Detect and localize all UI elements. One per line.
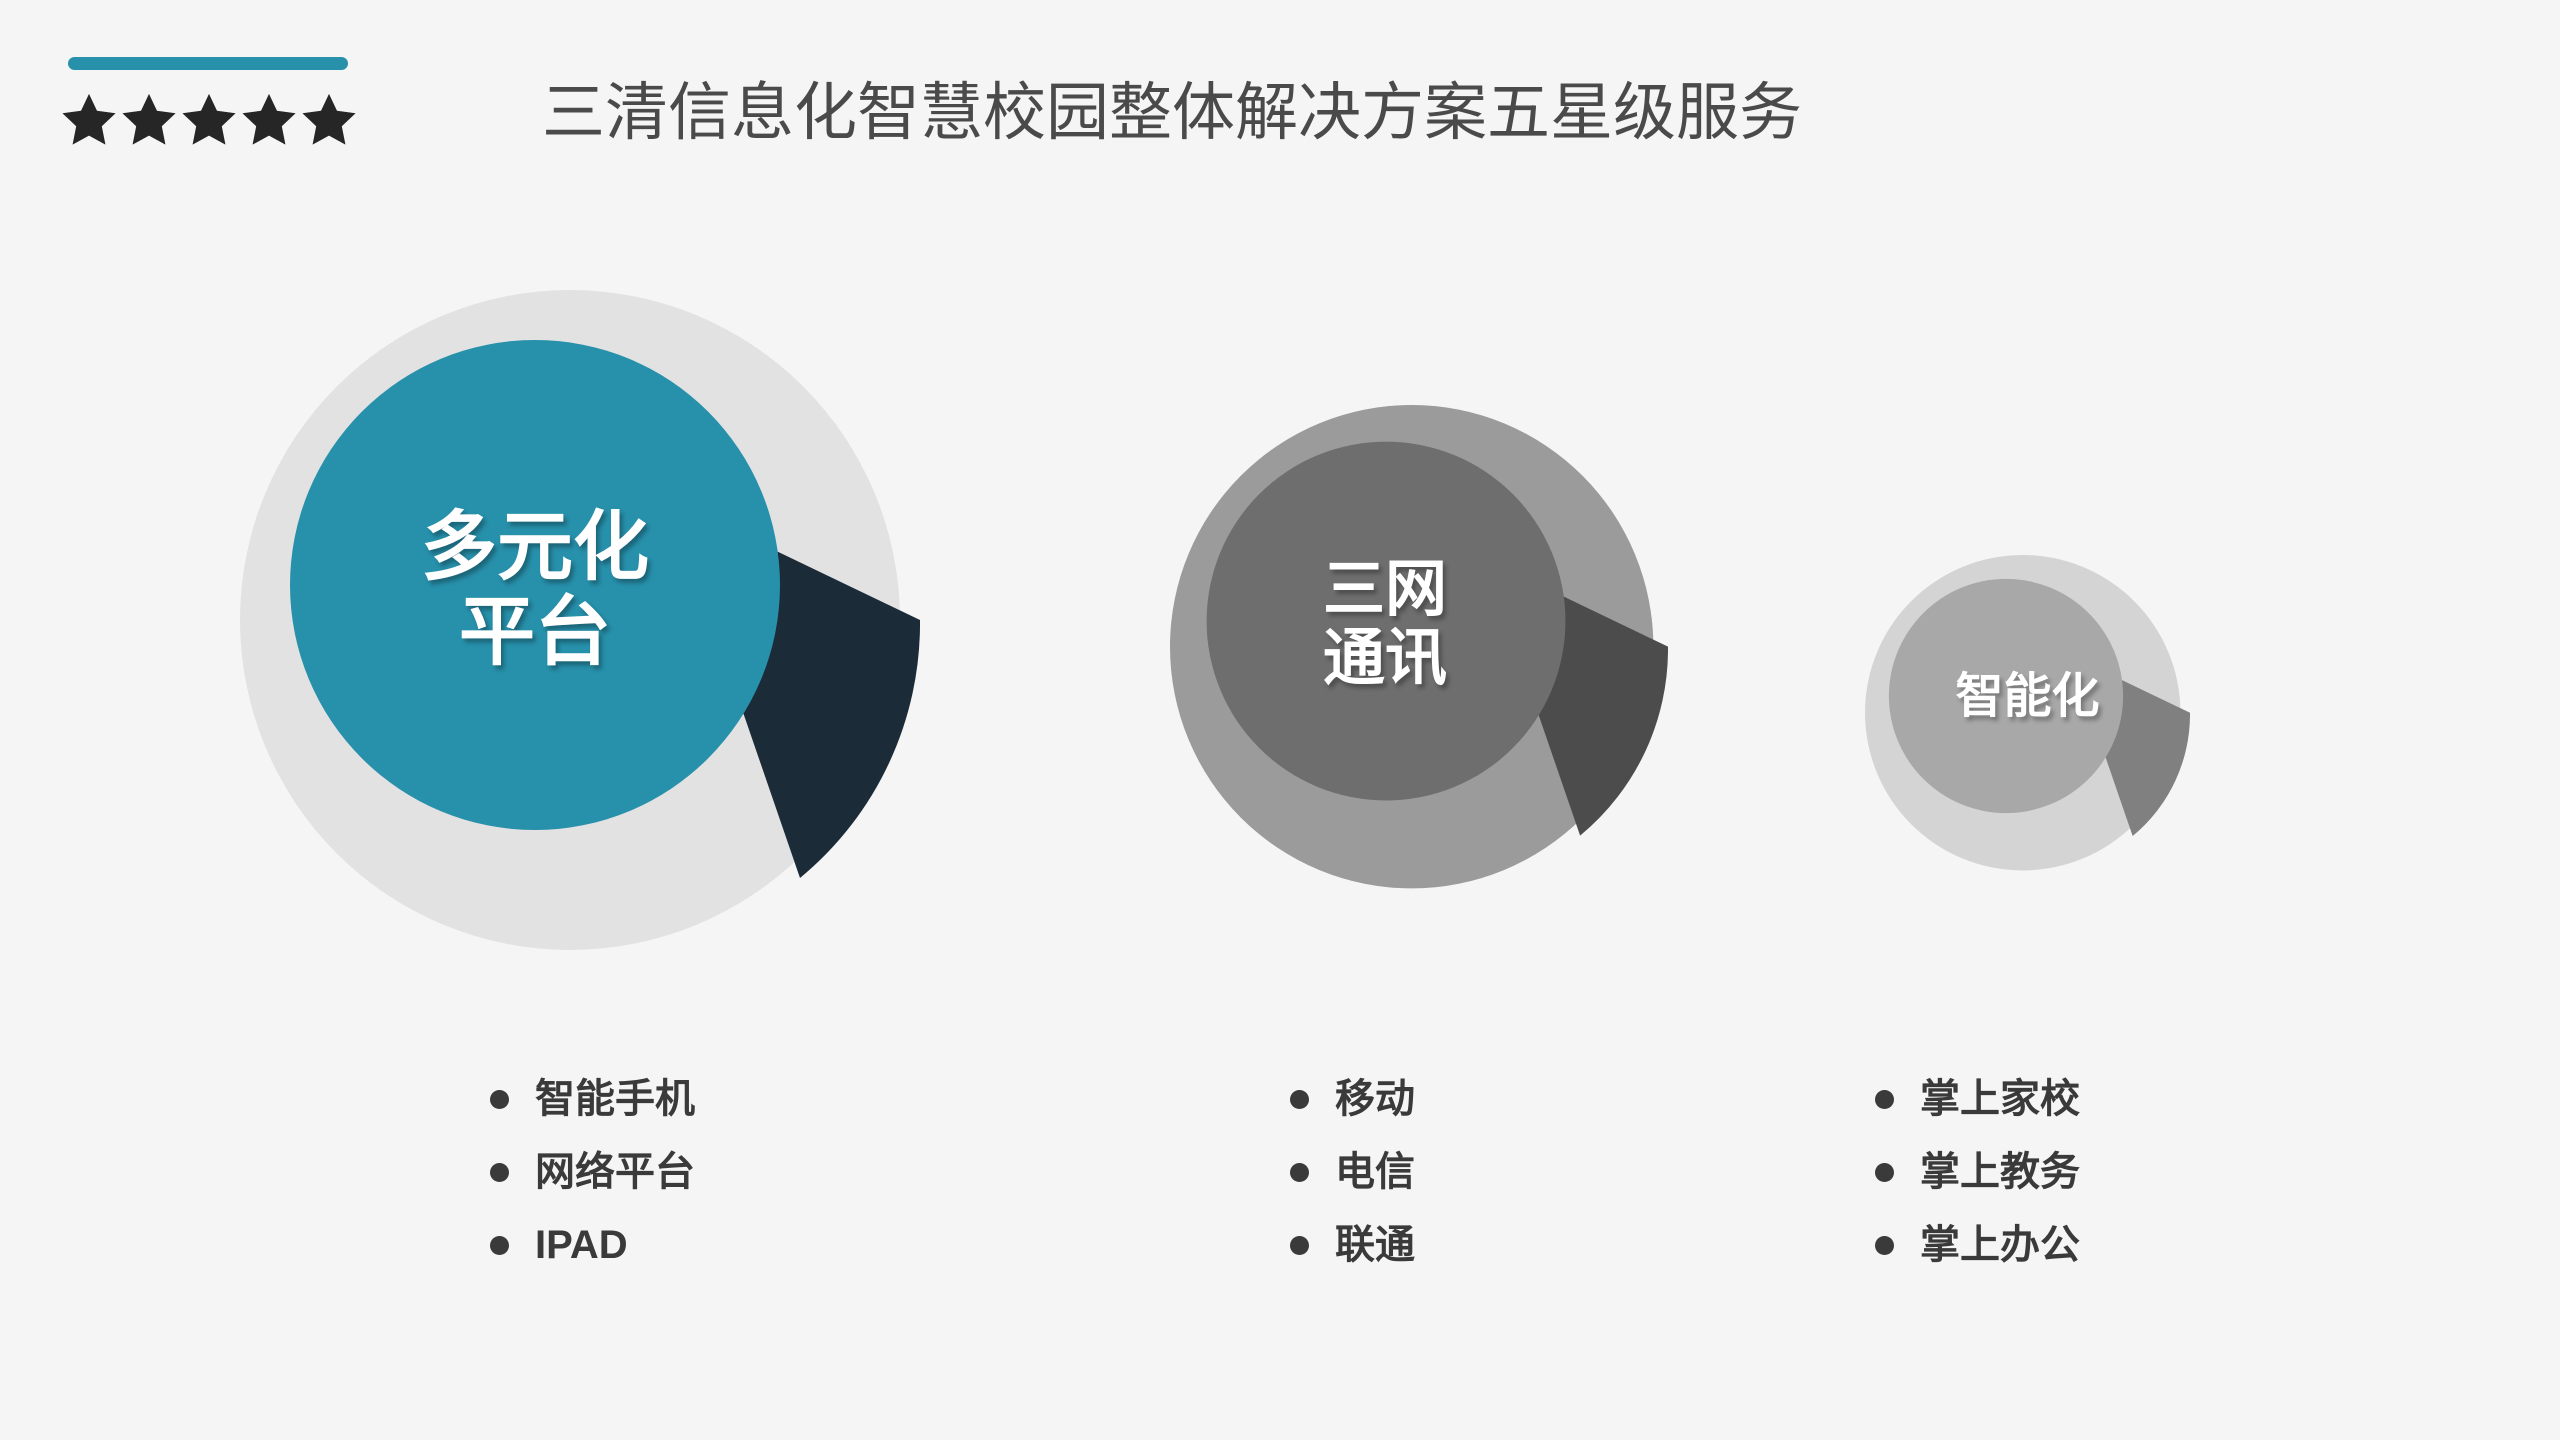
page-title: 三清信息化智慧校园整体解决方案五星级服务 bbox=[542, 82, 1802, 145]
list-item[interactable]: 掌上家校 bbox=[1875, 1075, 2080, 1123]
list-item[interactable]: IPAD bbox=[490, 1221, 695, 1269]
list-item-label: 掌上家校 bbox=[1920, 1079, 2080, 1119]
list-item-label: 电信 bbox=[1335, 1152, 1415, 1192]
feature-list-intelligent: 掌上家校 掌上教务 掌上办公 bbox=[1875, 1075, 2080, 1294]
star-icon bbox=[240, 90, 298, 148]
list-item[interactable]: 移动 bbox=[1290, 1075, 1415, 1123]
feature-list-three-networks: 移动 电信 联通 bbox=[1290, 1075, 1415, 1294]
inner-accent-circle bbox=[290, 340, 780, 830]
donut-chart-intelligent bbox=[1865, 555, 2190, 880]
list-item[interactable]: 智能手机 bbox=[490, 1075, 695, 1123]
bullet-dot-icon bbox=[1875, 1236, 1894, 1255]
list-item[interactable]: 掌上教务 bbox=[1875, 1148, 2080, 1196]
star-icon bbox=[300, 90, 358, 148]
columns-container: 多元化 平台 智能手机 网络平台 IPAD 三网 通讯 bbox=[0, 230, 2560, 1440]
star-icon bbox=[120, 90, 178, 148]
list-item-label: 移动 bbox=[1335, 1079, 1415, 1119]
bullet-dot-icon bbox=[1290, 1163, 1309, 1182]
star-rating bbox=[60, 90, 358, 148]
inner-accent-circle bbox=[1889, 579, 2123, 813]
bullet-dot-icon bbox=[1875, 1090, 1894, 1109]
list-item-label: 掌上教务 bbox=[1920, 1152, 2080, 1192]
list-item-label: IPAD bbox=[535, 1225, 628, 1265]
list-item-label: 智能手机 bbox=[535, 1079, 695, 1119]
feature-list-multi-platform: 智能手机 网络平台 IPAD bbox=[490, 1075, 695, 1294]
list-item-label: 掌上办公 bbox=[1920, 1225, 2080, 1265]
bullet-dot-icon bbox=[1290, 1236, 1309, 1255]
bullet-dot-icon bbox=[490, 1163, 509, 1182]
star-icon bbox=[60, 90, 118, 148]
bullet-dot-icon bbox=[490, 1090, 509, 1109]
list-item-label: 联通 bbox=[1335, 1225, 1415, 1265]
star-icon bbox=[180, 90, 238, 148]
list-item[interactable]: 网络平台 bbox=[490, 1148, 695, 1196]
list-item-label: 网络平台 bbox=[535, 1152, 695, 1192]
bullet-dot-icon bbox=[490, 1236, 509, 1255]
bullet-dot-icon bbox=[1875, 1163, 1894, 1182]
page-header: 三清信息化智慧校园整体解决方案五星级服务 bbox=[0, 0, 2560, 230]
donut-chart-multi-platform bbox=[240, 290, 920, 970]
list-item[interactable]: 掌上办公 bbox=[1875, 1221, 2080, 1269]
inner-accent-circle bbox=[1207, 442, 1566, 801]
bullet-dot-icon bbox=[1290, 1090, 1309, 1109]
list-item[interactable]: 联通 bbox=[1290, 1221, 1415, 1269]
accent-bar bbox=[68, 57, 348, 70]
donut-chart-three-networks bbox=[1170, 405, 1668, 903]
list-item[interactable]: 电信 bbox=[1290, 1148, 1415, 1196]
